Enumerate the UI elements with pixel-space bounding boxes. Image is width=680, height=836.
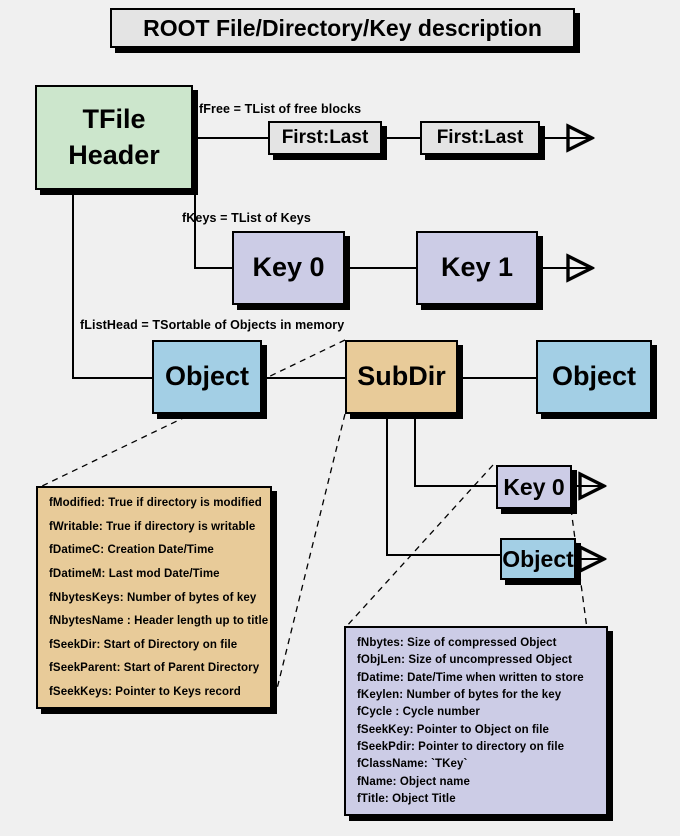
key-info-row: fObjLen: Size of uncompressed Object [357,654,595,666]
node-subdir[interactable]: SubDir [345,340,458,414]
edge-subdir-to-object-sub [387,412,500,555]
edge-label-flisthead: fListHead = TSortable of Objects in memo… [80,318,344,332]
directory-info-row: fNbytesName : Header length up to title [49,615,259,627]
node-free-block-0[interactable]: First:Last [268,121,382,155]
edge-header-to-listhead [73,190,152,378]
leader-subdir-to-dirinfo-bottom [272,414,345,709]
node-free-block-1[interactable]: First:Last [420,121,540,155]
node-key-0[interactable]: Key 0 [232,231,345,305]
node-subdir-key-0[interactable]: Key 0 [496,465,572,509]
tfile-header-line2: Header [68,140,160,171]
node-tfile-header[interactable]: TFile Header [35,85,193,190]
directory-info-row: fSeekKeys: Pointer to Keys record [49,686,259,698]
key-info-row: fName: Object name [357,776,595,788]
directory-info-row: fDatimeM: Last mod Date/Time [49,568,259,580]
edge-label-fkeys: fKeys = TList of Keys [182,211,311,225]
key-info-row: fSeekKey: Pointer to Object on file [357,724,595,736]
key-info-row: fDatime: Date/Time when written to store [357,672,595,684]
edge-label-ffree: fFree = TList of free blocks [199,102,361,116]
directory-info-panel: fModified: True if directory is modified… [36,486,272,709]
edge-subdir-to-key0-sub [415,412,496,486]
key-info-row: fKeylen: Number of bytes for the key [357,689,595,701]
leader-key0sub-to-keyinfo-top [345,465,493,628]
key-info-panel: fNbytes: Size of compressed Object fObjL… [344,626,608,816]
page-title: ROOT File/Directory/Key description [110,8,575,48]
node-object-right[interactable]: Object [536,340,652,414]
diagram-canvas: ROOT File/Directory/Key description TFil… [0,0,680,836]
edge-header-to-keys [195,190,232,268]
directory-info-row: fSeekDir: Start of Directory on file [49,639,259,651]
key-info-row: fTitle: Object Title [357,793,595,805]
node-object-left[interactable]: Object [152,340,262,414]
key-info-row: fSeekPdir: Pointer to directory on file [357,741,595,753]
directory-info-row: fSeekParent: Start of Parent Directory [49,662,259,674]
directory-info-row: fWritable: True if directory is writable [49,521,259,533]
key-info-row: fCycle : Cycle number [357,706,595,718]
key-info-row: fClassName: `TKey` [357,758,595,770]
node-subdir-object[interactable]: Object [500,538,576,580]
tfile-header-line1: TFile [82,104,145,135]
key-info-row: fNbytes: Size of compressed Object [357,637,595,649]
directory-info-row: fNbytesKeys: Number of bytes of key [49,592,259,604]
node-key-1[interactable]: Key 1 [416,231,538,305]
directory-info-row: fDatimeC: Creation Date/Time [49,544,259,556]
directory-info-row: fModified: True if directory is modified [49,497,259,509]
